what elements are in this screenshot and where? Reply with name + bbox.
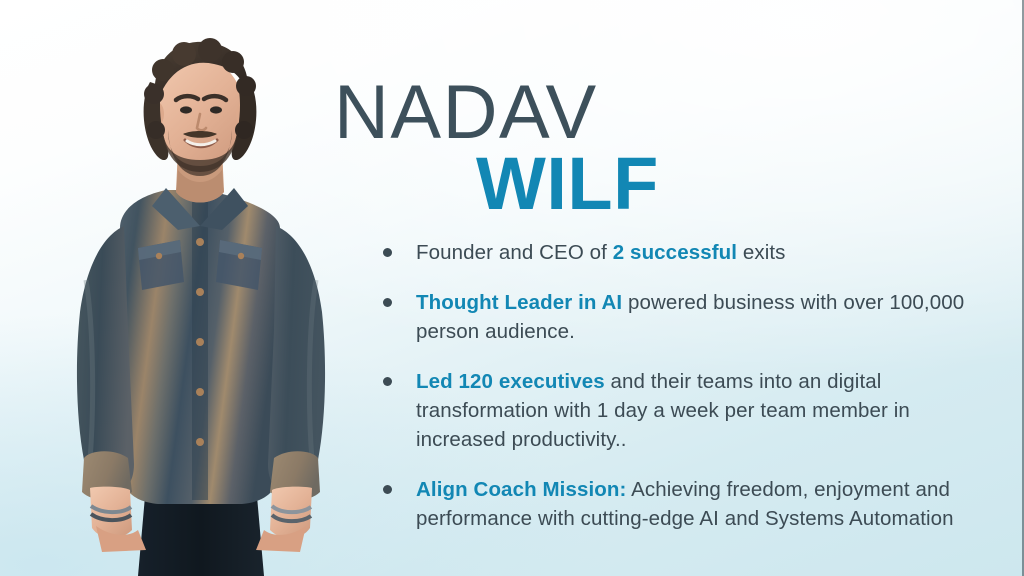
presentation-slide: NADAV WILF Founder and CEO of 2 successf… (0, 0, 1024, 576)
bullet-plain: Founder and CEO of (416, 241, 613, 264)
title-last-name: WILF (476, 150, 659, 218)
bullet-highlight: 2 successful (613, 241, 737, 264)
bullet-point-icon (383, 377, 392, 386)
list-item: Led 120 executives and their teams into … (378, 367, 984, 454)
bullet-highlight: Align Coach Mission: (416, 478, 626, 501)
portrait-photo (28, 30, 373, 576)
bullet-text: Led 120 executives and their teams into … (416, 370, 910, 451)
bullet-point-icon (383, 248, 392, 257)
bullet-point-icon (383, 298, 392, 307)
list-item: Thought Leader in AI powered business wi… (378, 288, 984, 346)
list-item: Founder and CEO of 2 successful exits (378, 238, 984, 267)
bullet-text: Founder and CEO of 2 successful exits (416, 241, 786, 264)
list-item: Align Coach Mission: Achieving freedom, … (378, 475, 984, 533)
bullet-point-icon (383, 485, 392, 494)
bullet-plain: exits (737, 241, 785, 264)
title-first-name: NADAV (334, 78, 659, 148)
bullet-highlight: Thought Leader in AI (416, 291, 622, 314)
bullet-list: Founder and CEO of 2 successful exitsTho… (378, 238, 984, 533)
bullet-text: Align Coach Mission: Achieving freedom, … (416, 478, 954, 530)
bullet-text: Thought Leader in AI powered business wi… (416, 291, 964, 343)
page-title: NADAV WILF (334, 78, 659, 218)
bullet-highlight: Led 120 executives (416, 370, 605, 393)
